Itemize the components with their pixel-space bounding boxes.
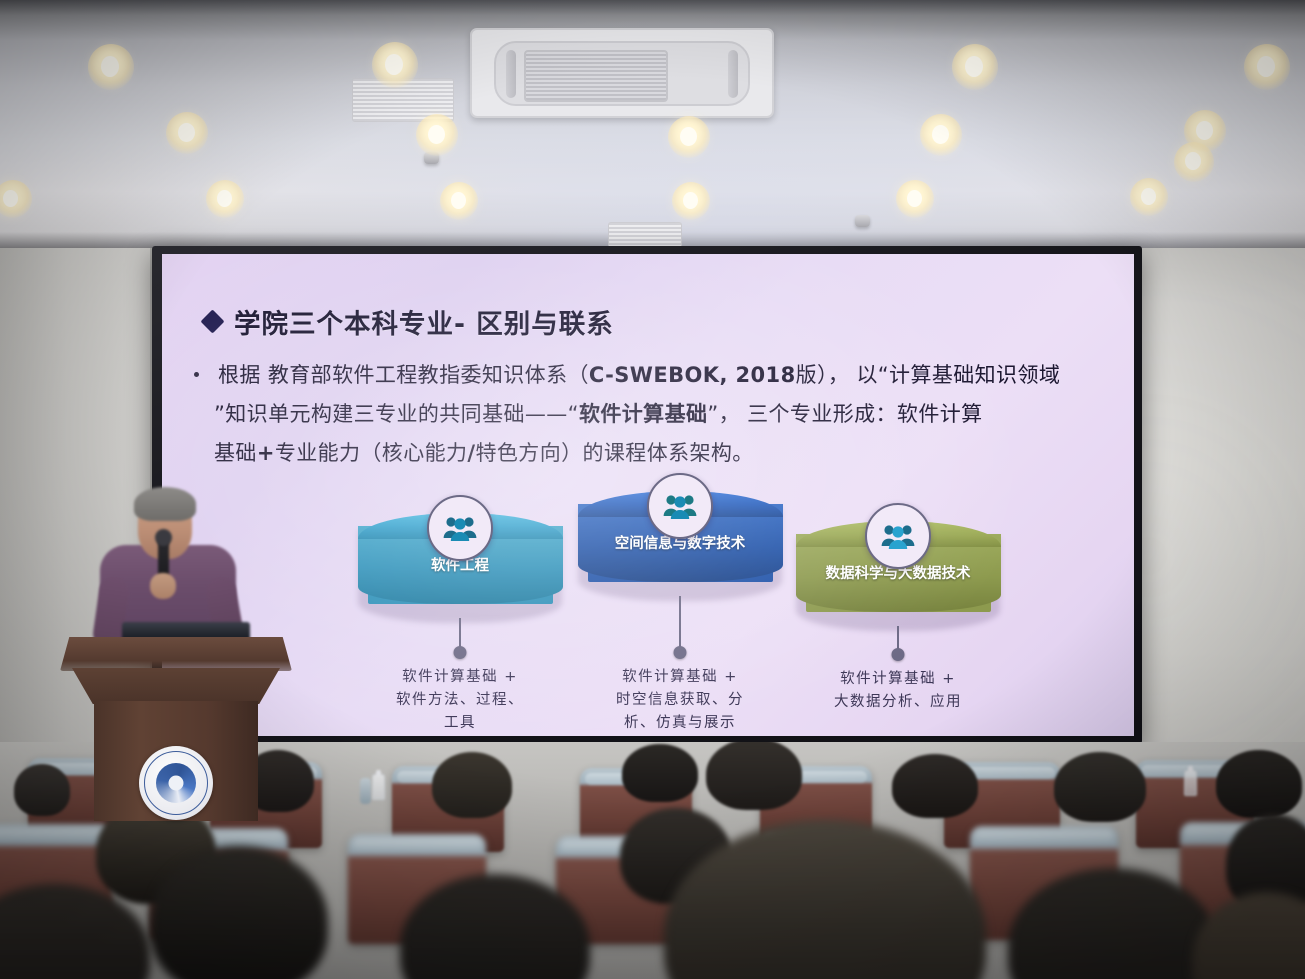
ac-grille bbox=[524, 50, 668, 102]
caption-line: 大数据分析、应用 bbox=[786, 691, 1010, 714]
slide-body-line-1: 根据 教育部软件工程教指委知识体系（C-SWEBOK, 2018版）， 以“计算… bbox=[188, 356, 1120, 395]
lectern-column bbox=[94, 701, 258, 821]
caption-line: 时空信息获取、分 bbox=[568, 689, 792, 712]
people-group-icon-svg bbox=[442, 514, 478, 542]
presenter-hand bbox=[150, 573, 176, 599]
program-card-software-engineering: 软件工程 软件计算基础 + 软件方法、过程、 工具 bbox=[348, 526, 572, 618]
body-text-segment: 版）， 以“计算基础知识领域 bbox=[796, 363, 1061, 387]
card-connector-dot bbox=[892, 648, 905, 661]
water-bottle bbox=[1184, 770, 1197, 796]
presentation-screen: 学院三个本科专业- 区别与联系 根据 教育部软件工程教指委知识体系（C-SWEB… bbox=[162, 254, 1134, 736]
audience-head-foreground bbox=[150, 846, 328, 979]
body-text-segment: ”知识单元构建三专业的共同基础——“ bbox=[214, 402, 579, 426]
downlight-core bbox=[965, 56, 983, 77]
caption-line: 软件计算基础 + bbox=[348, 666, 572, 689]
podium-area bbox=[60, 485, 292, 815]
body-text-emphasis: 软件计算基础 bbox=[579, 402, 707, 426]
slide-body-line-3: 基础+专业能力（核心能力/特色方向）的课程体系架构。 bbox=[188, 434, 1120, 473]
downlight-core bbox=[1141, 188, 1156, 205]
downlight-core bbox=[1196, 121, 1213, 140]
lecture-hall-scene: 学院三个本科专业- 区别与联系 根据 教育部软件工程教指委知识体系（C-SWEB… bbox=[0, 0, 1305, 979]
caption-line: 软件计算基础 + bbox=[568, 666, 792, 689]
downlight-core bbox=[178, 123, 195, 142]
downlight-core bbox=[1185, 152, 1201, 170]
downlight-core bbox=[3, 190, 18, 207]
lectern-top bbox=[60, 637, 292, 671]
people-group-icon-svg bbox=[662, 492, 698, 520]
seat-armrest bbox=[360, 778, 371, 804]
body-text-segment: 根据 教育部软件工程教指委知识体系（ bbox=[218, 363, 589, 387]
bullet-dot-icon bbox=[194, 372, 199, 377]
audience-head bbox=[1054, 752, 1146, 822]
slide-body: 根据 教育部软件工程教指委知识体系（C-SWEBOK, 2018版）， 以“计算… bbox=[188, 356, 1120, 473]
card-caption: 软件计算基础 + 大数据分析、应用 bbox=[786, 668, 1010, 714]
audience-head bbox=[432, 752, 512, 818]
body-text-emphasis: / bbox=[467, 441, 475, 465]
smoke-detector-right bbox=[855, 215, 870, 227]
ceiling bbox=[0, 0, 1305, 252]
people-group-icon-svg bbox=[880, 522, 916, 550]
downlight-core bbox=[1257, 56, 1275, 77]
program-card-group: 软件工程 软件计算基础 + 软件方法、过程、 工具 bbox=[162, 490, 1134, 736]
audience-head bbox=[892, 754, 978, 818]
audience-head bbox=[706, 742, 802, 810]
body-text-segment: ”， 三个专业形成：软件计算 bbox=[707, 402, 982, 426]
people-group-icon bbox=[647, 473, 713, 539]
body-text-emphasis: C-SWEBOK, 2018 bbox=[589, 363, 796, 387]
card-caption: 软件计算基础 + 时空信息获取、分 析、仿真与展示 bbox=[568, 666, 792, 735]
body-text-segment: 特色方向）的课程体系架构。 bbox=[476, 441, 754, 465]
card-body: 数据科学与大数据技术 bbox=[806, 534, 991, 612]
card-caption: 软件计算基础 + 软件方法、过程、 工具 bbox=[348, 666, 572, 735]
emblem-swirl-icon bbox=[156, 763, 196, 803]
card-connector-dot bbox=[454, 646, 467, 659]
people-group-icon bbox=[865, 503, 931, 569]
downlight-core bbox=[101, 56, 119, 77]
downlight-core bbox=[428, 125, 445, 144]
downlight-core bbox=[680, 127, 697, 146]
ceiling-ac-cassette bbox=[470, 28, 774, 118]
slide-title-text: 学院三个本科专业- 区别与联系 bbox=[234, 302, 614, 341]
lectern-middle bbox=[72, 668, 280, 704]
downlight-core bbox=[385, 54, 403, 75]
ac-slat-right bbox=[728, 50, 738, 98]
audience-head bbox=[622, 744, 698, 802]
program-card-data-science: 数据科学与大数据技术 软件计算基础 + 大数据分析、应用 bbox=[786, 534, 1010, 626]
card-body: 软件工程 bbox=[368, 526, 553, 604]
caption-line: 工具 bbox=[348, 712, 572, 735]
downlight-core bbox=[683, 192, 698, 209]
water-bottle bbox=[372, 774, 385, 800]
downlight-core bbox=[932, 125, 949, 144]
slide-title: 学院三个本科专业- 区别与联系 bbox=[204, 302, 614, 341]
caption-line: 软件方法、过程、 bbox=[348, 689, 572, 712]
card-connector-line bbox=[679, 596, 681, 650]
body-text-emphasis: + bbox=[257, 441, 275, 465]
card-connector-dot bbox=[674, 646, 687, 659]
presenter-hair bbox=[134, 487, 196, 521]
slide-body-line-2: ”知识单元构建三专业的共同基础——“软件计算基础”， 三个专业形成：软件计算 bbox=[188, 395, 1120, 434]
downlight-core bbox=[451, 192, 466, 209]
microphone-head bbox=[155, 529, 172, 546]
body-text-segment: 专业能力（核心能力 bbox=[275, 441, 468, 465]
caption-line: 软件计算基础 + bbox=[786, 668, 1010, 691]
diamond-bullet-icon bbox=[200, 309, 224, 333]
card-body: 空间信息与数字技术 bbox=[588, 504, 773, 582]
university-emblem bbox=[139, 746, 213, 820]
downlight-core bbox=[907, 190, 922, 207]
audience-head bbox=[1216, 750, 1302, 818]
ac-slat-left bbox=[506, 50, 516, 98]
program-card-spatial-information: 空间信息与数字技术 软件计算基础 + 时空信息获取、分 析、仿真与展示 bbox=[568, 504, 792, 596]
body-text-segment: 基础 bbox=[214, 441, 257, 465]
downlight-core bbox=[217, 190, 232, 207]
people-group-icon bbox=[427, 495, 493, 561]
caption-line: 析、仿真与展示 bbox=[568, 712, 792, 735]
